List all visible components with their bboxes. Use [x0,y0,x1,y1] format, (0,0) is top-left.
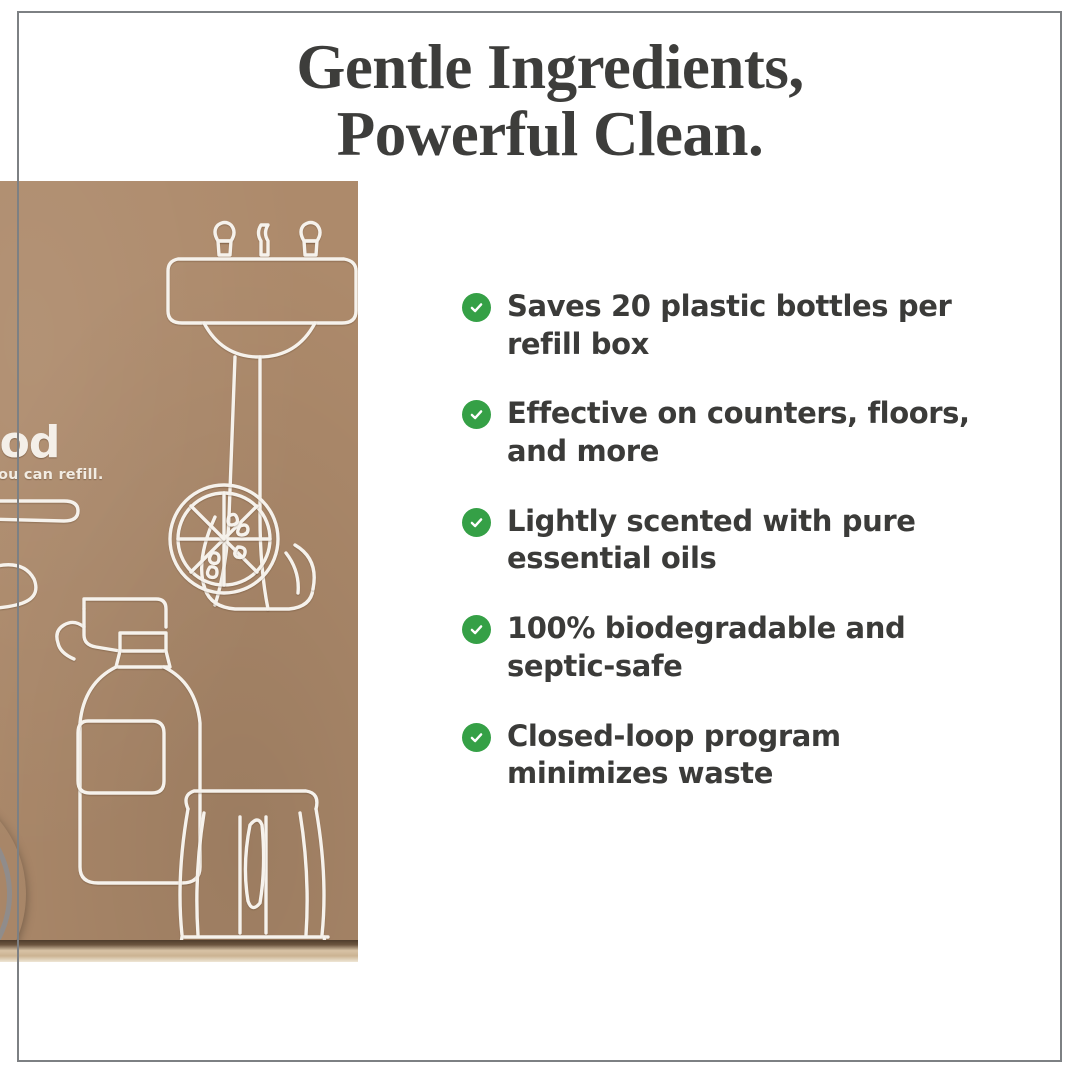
benefits-list: Saves 20 plastic bottles per refill boxE… [462,288,1022,793]
pedestal-sink-icon [168,223,356,610]
benefit-item-saves-bottles: Saves 20 plastic bottles per refill box [462,288,1022,363]
benefit-label: Effective on counters, floors, and more [507,395,987,470]
check-circle-icon [462,400,491,429]
check-circle-icon [462,723,491,752]
promo-canvas: Gentle Ingredients, Powerful Clean. [0,0,1080,1080]
cardboard-bottom-edge [0,940,358,962]
product-photo: on good and cleaners you can refill. [0,181,358,962]
benefit-item-effective-surfaces: Effective on counters, floors, and more [462,395,1022,470]
toothbrush-icon [0,501,78,521]
box-line-art [0,181,358,962]
headline-line-2: Powerful Clean. [150,101,950,168]
benefit-item-closed-loop: Closed-loop program minimizes waste [462,718,1022,793]
check-circle-icon [462,508,491,537]
spoon-icon [0,565,36,609]
box-brand-text: on good [0,417,59,468]
lemon-slice-icon [170,485,278,593]
box-tagline: and cleaners you can refill. [0,467,104,483]
benefit-label: Closed-loop program minimizes waste [507,718,987,793]
benefit-item-essential-oils: Lightly scented with pure essential oils [462,503,1022,578]
soap-bar-icon [78,721,164,793]
benefit-label: Saves 20 plastic bottles per refill box [507,288,987,363]
check-circle-icon [462,293,491,322]
benefit-item-biodegradable: 100% biodegradable and septic-safe [462,610,1022,685]
headline-line-1: Gentle Ingredients, [150,34,950,101]
page-title: Gentle Ingredients, Powerful Clean. [150,34,950,168]
benefit-label: Lightly scented with pure essential oils [507,503,987,578]
check-circle-icon [462,615,491,644]
benefit-label: 100% biodegradable and septic-safe [507,610,987,685]
